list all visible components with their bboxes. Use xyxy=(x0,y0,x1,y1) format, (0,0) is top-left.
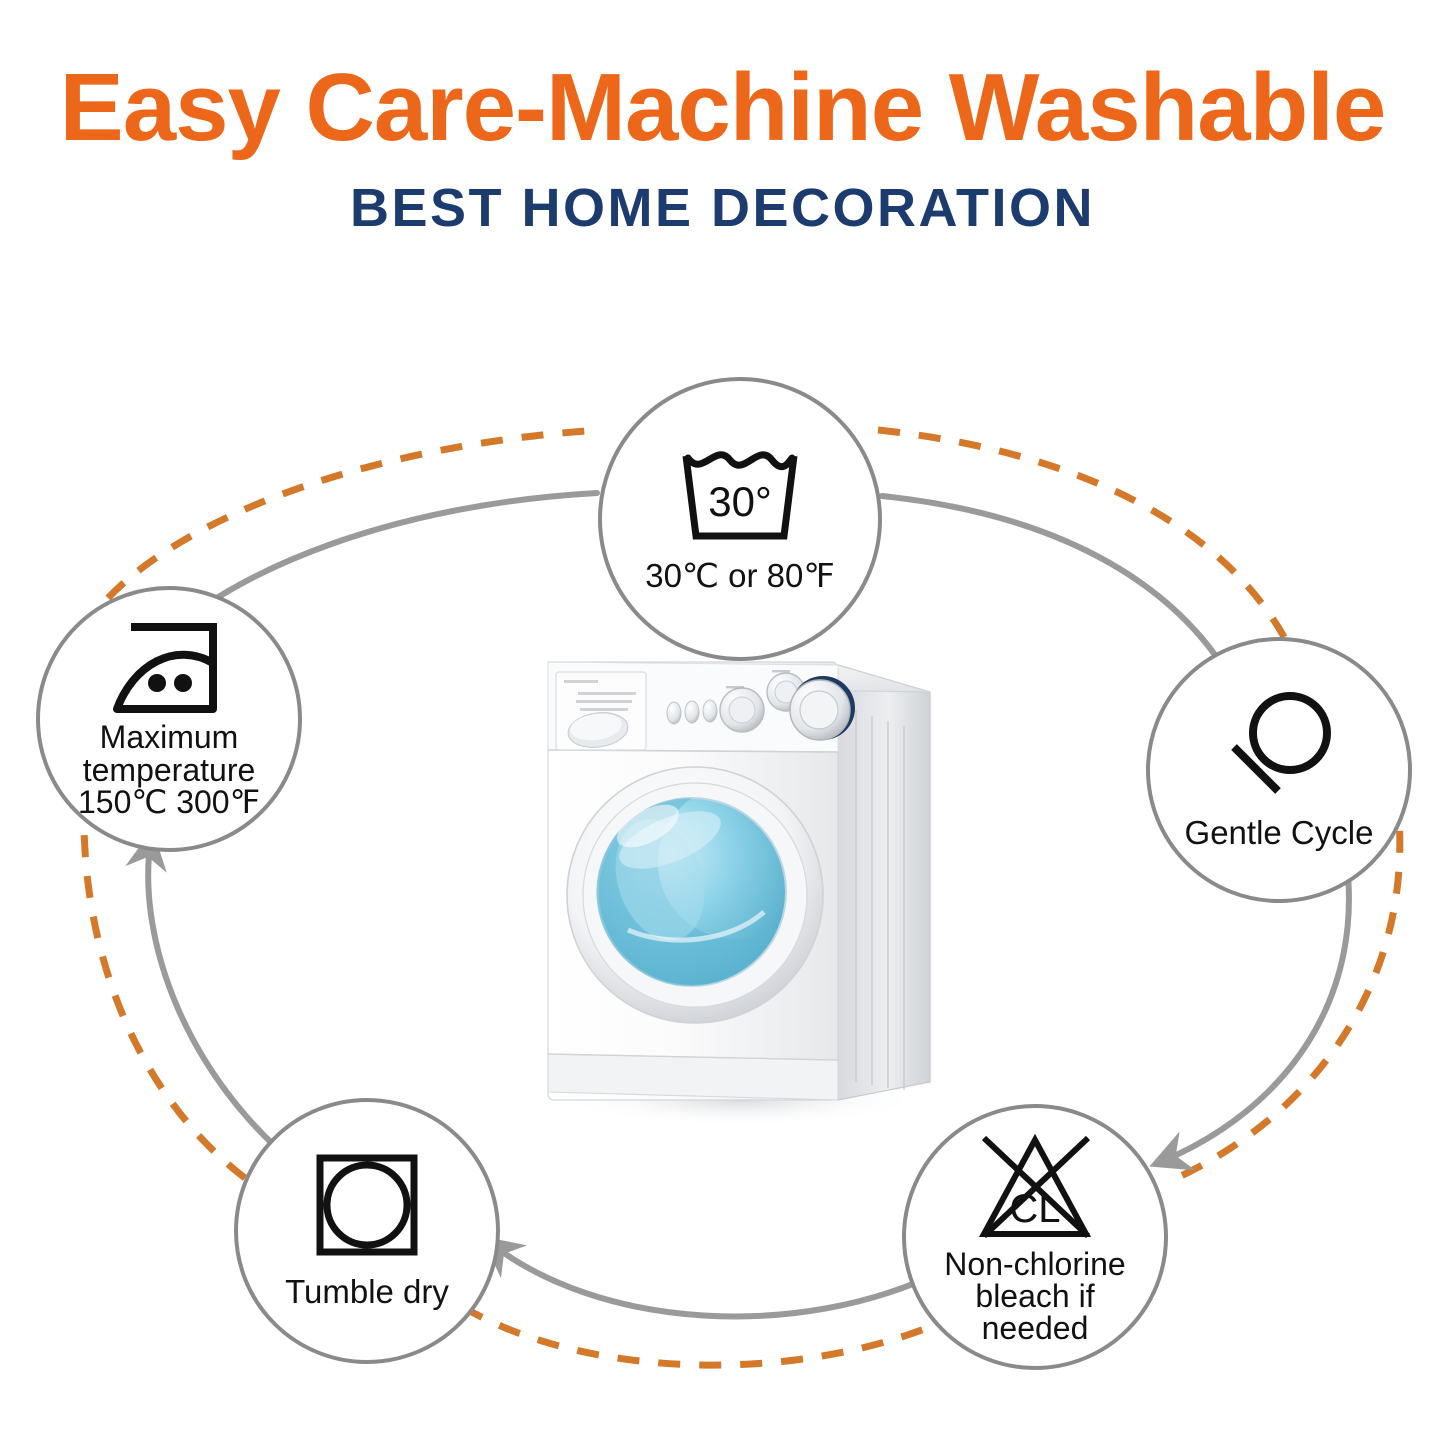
node-wash-caption: 30℃ or 80℉ xyxy=(645,558,835,594)
gentle-cycle-icon xyxy=(1220,689,1338,801)
care-cycle-diagram: 30° 30℃ or 80℉ Gentle Cycle xyxy=(0,0,1445,1445)
arrow-tumble-to-iron xyxy=(148,838,300,1168)
iron-two-dots-icon xyxy=(105,619,233,719)
arrow-bleach-to-tumble xyxy=(489,1242,940,1316)
node-bleach-caption: Non-chlorine bleach if needed xyxy=(944,1248,1125,1344)
tumble-dry-icon xyxy=(312,1152,422,1258)
node-gentle-cycle[interactable]: Gentle Cycle xyxy=(1146,637,1412,903)
node-gentle-caption: Gentle Cycle xyxy=(1185,815,1374,851)
infographic-canvas: Easy Care-Machine Washable BEST HOME DEC… xyxy=(0,0,1445,1445)
control-buttons xyxy=(667,700,717,724)
node-iron-caption: Maximum temperature 150℃ 300℉ xyxy=(78,721,260,819)
washer-door xyxy=(567,767,823,1023)
node-tumble-dry[interactable]: Tumble dry xyxy=(234,1098,500,1364)
wash-tub-30-icon: 30° xyxy=(674,444,806,548)
dash-iron-to-wash xyxy=(108,430,600,598)
dash-wash-to-gentle xyxy=(878,430,1290,648)
wash-temp-value: 30° xyxy=(708,478,772,525)
washing-machine-illustration xyxy=(520,630,960,1130)
node-tumble-caption: Tumble dry xyxy=(285,1274,449,1310)
bleach-cl-label: CL xyxy=(1009,1187,1060,1231)
node-non-chlorine-bleach[interactable]: CL Non-chlorine bleach if needed xyxy=(902,1104,1168,1370)
washing-machine-image xyxy=(520,630,960,1130)
dash-bleach-to-tumble xyxy=(440,1292,960,1365)
non-chlorine-bleach-icon: CL xyxy=(972,1130,1098,1246)
node-iron-temperature[interactable]: Maximum temperature 150℃ 300℉ xyxy=(36,586,302,852)
node-wash-temperature[interactable]: 30° 30℃ or 80℉ xyxy=(598,377,882,661)
